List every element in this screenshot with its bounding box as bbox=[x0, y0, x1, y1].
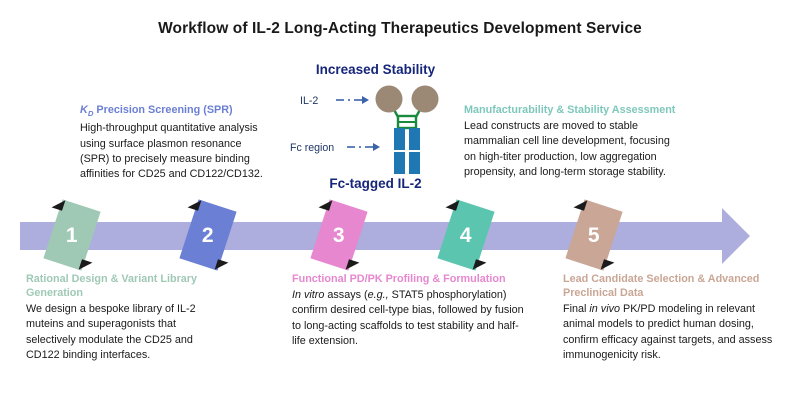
molecule-panel-title: Increased Stability bbox=[288, 62, 463, 77]
page-title: Workflow of IL-2 Long-Acting Therapeutic… bbox=[0, 20, 800, 38]
step-text-block-2: KD Precision Screening (SPR) High-throug… bbox=[80, 103, 272, 183]
step-number-2: 2 bbox=[202, 225, 214, 246]
dash-dot-arrow-icon-il2 bbox=[335, 94, 369, 106]
molecule-panel: Increased Stability IL-2 Fc region bbox=[288, 62, 463, 202]
step-body-4: Lead constructs are moved to stable mamm… bbox=[464, 119, 679, 180]
step-number-1: 1 bbox=[66, 225, 78, 246]
step-text-block-5: Lead Candidate Selection & Advanced Prec… bbox=[563, 272, 785, 363]
step-text-block-3: Functional PD/PK Profiling & Formulation… bbox=[292, 272, 524, 349]
step-body-2: High-throughput quantitative analysis us… bbox=[80, 121, 272, 182]
molecule-label-fc-region: Fc region bbox=[290, 142, 334, 154]
fc-tagged-il2-molecule-icon bbox=[372, 84, 442, 176]
step-body-5: Final in vivo PK/PD modeling in relevant… bbox=[563, 302, 785, 363]
step-heading-5: Lead Candidate Selection & Advanced Prec… bbox=[563, 272, 785, 300]
molecule-panel-caption: Fc-tagged IL-2 bbox=[288, 176, 463, 191]
step-heading-4: Manufacturability & Stability Assessment bbox=[464, 103, 679, 117]
step-text-block-4: Manufacturability & Stability Assessment… bbox=[464, 103, 679, 180]
step-body-1: We design a bespoke library of IL-2 mute… bbox=[26, 302, 218, 363]
step-heading-3: Functional PD/PK Profiling & Formulation bbox=[292, 272, 524, 286]
step-text-block-1: Rational Design & Variant Library Genera… bbox=[26, 272, 218, 363]
step-number-5: 5 bbox=[588, 225, 600, 246]
step-heading-2: KD Precision Screening (SPR) bbox=[80, 103, 272, 119]
step-body-3: In vitro assays (e.g., STAT5 phosphoryla… bbox=[292, 288, 524, 349]
timeline-arrow bbox=[20, 208, 750, 264]
step-number-3: 3 bbox=[333, 225, 345, 246]
molecule-label-il2: IL-2 bbox=[300, 95, 318, 107]
step-heading-1: Rational Design & Variant Library Genera… bbox=[26, 272, 218, 300]
step-number-4: 4 bbox=[460, 225, 472, 246]
diagram-canvas: Workflow of IL-2 Long-Acting Therapeutic… bbox=[0, 0, 800, 408]
